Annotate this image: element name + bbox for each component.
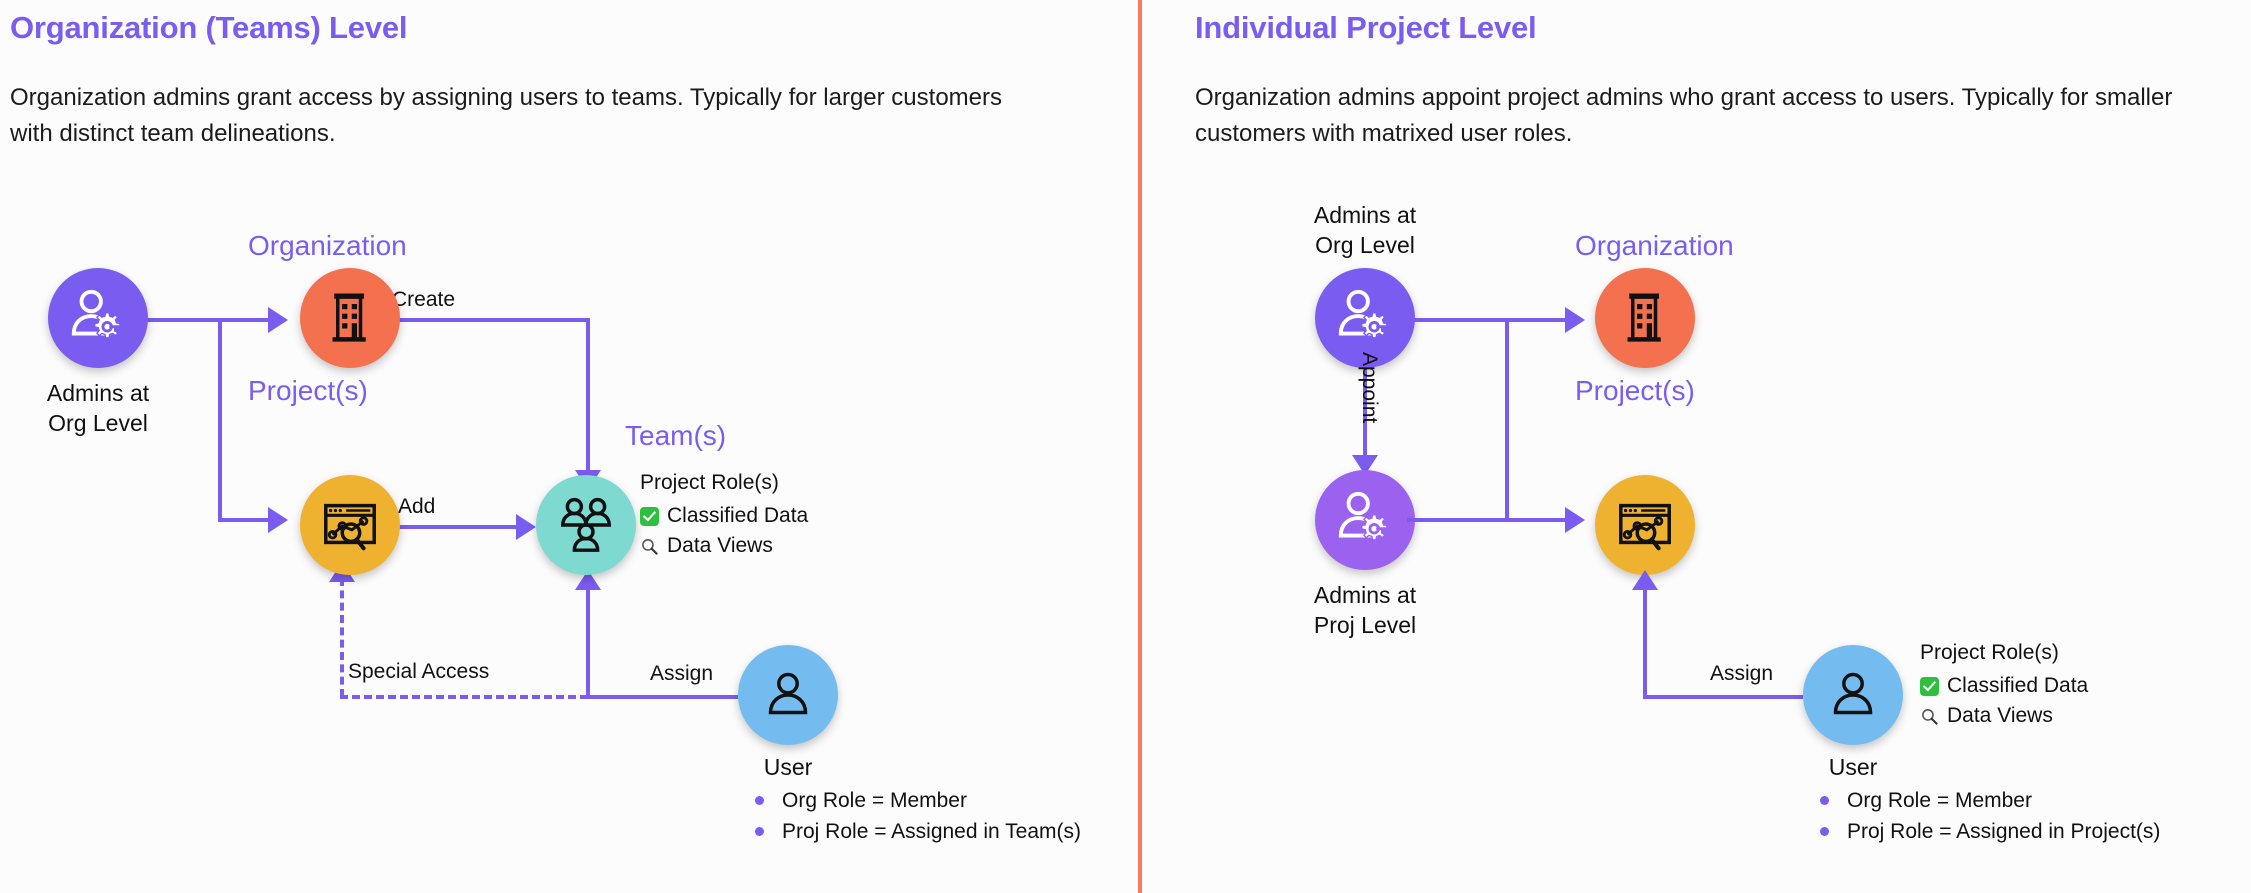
edge-label-add: Add: [398, 495, 435, 519]
list-item: Org Role = Member: [1820, 785, 2160, 816]
edge-label-create: Create: [392, 288, 455, 312]
node-label-admins-at-org-level: Admins at Org Level: [1285, 200, 1445, 260]
category-label-projects: Project(s): [1575, 375, 1695, 407]
user-bullet-list: Org Role = Member Proj Role = Assigned i…: [755, 785, 1081, 847]
bullet-dot-icon: [1820, 827, 1829, 836]
edge-admin-to-project-line: [218, 518, 270, 522]
magnifier-icon: [640, 537, 659, 556]
edge-assign-line-v: [1643, 586, 1647, 698]
building-icon: [322, 290, 378, 346]
panel-individual-project-level: Individual Project Level Organization ad…: [1185, 0, 2251, 893]
user-bullet-list: Org Role = Member Proj Role = Assigned i…: [1820, 785, 2160, 847]
edge-assign-arrow: [1632, 570, 1658, 590]
panel-organization-teams-level: Organization (Teams) Level Organization …: [0, 0, 1130, 893]
node-organization[interactable]: [1595, 268, 1695, 368]
list-item: Proj Role = Assigned in Project(s): [1820, 816, 2160, 847]
bullet-label: Proj Role = Assigned in Project(s): [1847, 816, 2160, 847]
category-label-organization: Organization: [1575, 230, 1734, 262]
roles-title: Project Role(s): [1920, 638, 2088, 668]
roles-title: Project Role(s): [640, 468, 808, 498]
node-label-admins-at-org-level: Admins at Org Level: [18, 378, 178, 438]
panel-divider: [1138, 0, 1142, 893]
node-organization[interactable]: [300, 268, 400, 368]
role-item-data-views: Data Views: [1920, 701, 2088, 731]
node-teams[interactable]: [536, 475, 636, 575]
edge-admin-to-org-arrow: [268, 307, 288, 333]
bullet-dot-icon: [1820, 796, 1829, 805]
role-label: Data Views: [667, 531, 773, 561]
admin-key-gear-icon: [1334, 489, 1396, 551]
role-item-classified-data: Classified Data: [1920, 671, 2088, 701]
edge-create-line-v: [586, 318, 590, 476]
edge-special-access-line-h: [340, 695, 588, 699]
panel-description: Organization admins appoint project admi…: [1195, 80, 2235, 152]
list-item: Org Role = Member: [755, 785, 1081, 816]
user-icon: [760, 667, 816, 723]
bullet-label: Proj Role = Assigned in Team(s): [782, 816, 1081, 847]
project-analytics-icon: [319, 494, 381, 556]
node-user[interactable]: [738, 645, 838, 745]
node-admins-at-org-level[interactable]: [48, 268, 148, 368]
role-label: Classified Data: [667, 501, 808, 531]
bullet-label: Org Role = Member: [1847, 785, 2032, 816]
bullet-dot-icon: [755, 827, 764, 836]
node-admins-at-proj-level[interactable]: [1315, 470, 1415, 570]
node-projects[interactable]: [300, 475, 400, 575]
admin-key-gear-icon: [67, 287, 129, 349]
category-label-teams: Team(s): [625, 420, 726, 452]
edge-admin-down-line: [218, 318, 222, 522]
edge-admin-to-org-line: [140, 318, 270, 322]
node-label-user: User: [1803, 752, 1903, 782]
edge-special-access-line-v: [340, 578, 344, 697]
admin-key-gear-icon: [1334, 287, 1396, 349]
team-people-icon: [555, 494, 617, 556]
team-project-roles: Project Role(s) Classified Data Data Vie…: [640, 468, 808, 561]
building-icon: [1617, 290, 1673, 346]
edge-assign-line-h: [586, 695, 738, 699]
edge-add-arrow: [516, 514, 536, 540]
node-label-user: User: [738, 752, 838, 782]
category-label-organization: Organization: [248, 230, 407, 262]
panel-title: Individual Project Level: [1195, 10, 1536, 46]
user-project-roles: Project Role(s) Classified Data Data Vie…: [1920, 638, 2088, 731]
node-user[interactable]: [1803, 645, 1903, 745]
user-icon: [1825, 667, 1881, 723]
edge-label-assign: Assign: [650, 662, 713, 686]
bullet-dot-icon: [755, 796, 764, 805]
green-check-icon: [1920, 677, 1939, 696]
panel-title: Organization (Teams) Level: [10, 10, 407, 46]
role-label: Classified Data: [1947, 671, 2088, 701]
role-item-data-views: Data Views: [640, 531, 808, 561]
edge-admin-org-to-org-arrow: [1565, 307, 1585, 333]
edge-label-appoint: Appoint: [1357, 352, 1381, 423]
role-item-classified-data: Classified Data: [640, 501, 808, 531]
edge-admin-proj-to-project-line: [1407, 518, 1567, 522]
role-label: Data Views: [1947, 701, 2053, 731]
panel-description: Organization admins grant access by assi…: [10, 80, 1050, 152]
edge-admin-org-to-org-line: [1407, 318, 1567, 322]
node-projects[interactable]: [1595, 475, 1695, 575]
edge-admin-trunk-line: [1505, 318, 1509, 522]
magnifier-icon: [1920, 707, 1939, 726]
category-label-projects: Project(s): [248, 375, 368, 407]
edge-label-special-access: Special Access: [348, 660, 489, 684]
edge-assign-line-v: [586, 586, 590, 698]
bullet-label: Org Role = Member: [782, 785, 967, 816]
edge-admin-to-project-arrow: [268, 507, 288, 533]
edge-assign-line-h: [1643, 695, 1803, 699]
edge-label-assign: Assign: [1710, 662, 1773, 686]
green-check-icon: [640, 507, 659, 526]
list-item: Proj Role = Assigned in Team(s): [755, 816, 1081, 847]
project-analytics-icon: [1614, 494, 1676, 556]
node-label-admins-at-proj-level: Admins at Proj Level: [1285, 580, 1445, 640]
edge-admin-proj-to-project-arrow: [1565, 507, 1585, 533]
